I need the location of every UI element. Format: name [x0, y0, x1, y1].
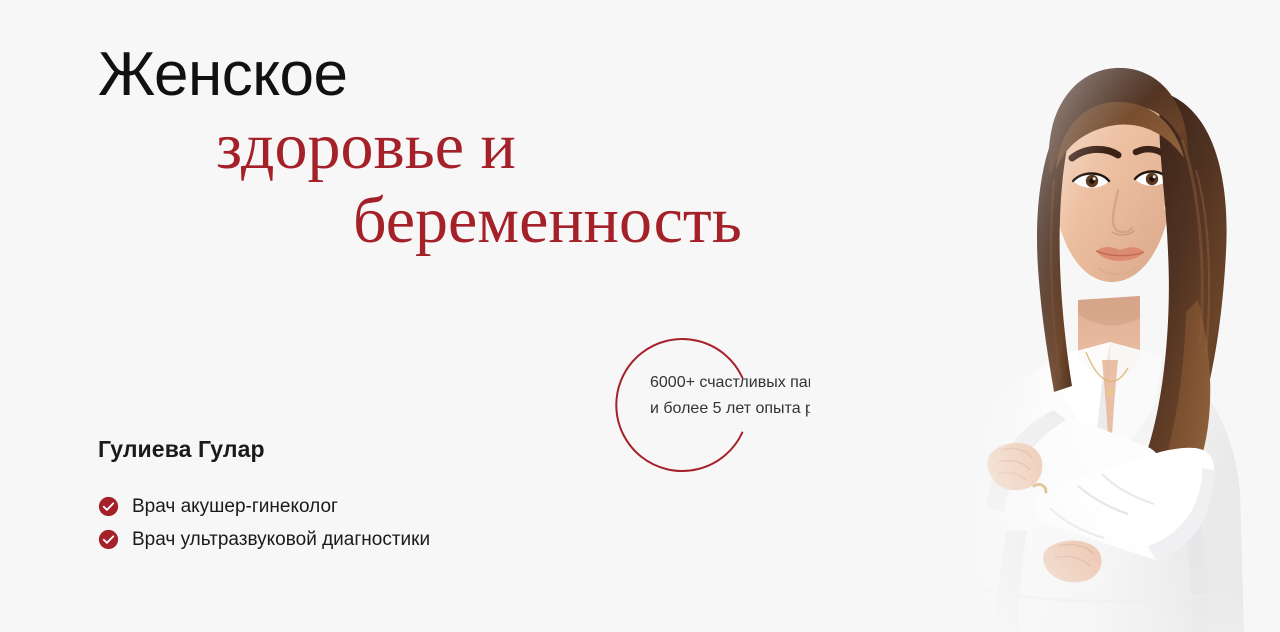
- headline-line-3: беременность: [0, 188, 900, 254]
- doctor-info: Гулиева Гулар Врач акушер-гинеколог Врач…: [98, 436, 618, 562]
- doctor-name: Гулиева Гулар: [98, 436, 618, 463]
- headline-line-2: здоровье и: [0, 114, 900, 180]
- check-circle-icon: [98, 529, 119, 550]
- stat-badge-text: 6000+ счастливых пациенток и более 5 лет…: [650, 370, 970, 422]
- headline-line-1: Женское: [0, 44, 900, 106]
- list-item: Врач ультразвуковой диагностики: [98, 529, 618, 550]
- credential-label: Врач акушер-гинеколог: [132, 496, 338, 517]
- hero-banner: Женское здоровье и беременность 6000+ сч…: [0, 0, 1280, 632]
- page-title: Женское здоровье и беременность: [0, 44, 900, 254]
- credential-label: Врач ультразвуковой диагностики: [132, 529, 430, 550]
- stat-badge-line-1: 6000+ счастливых пациенток: [650, 370, 970, 396]
- stat-badge-line-2: и более 5 лет опыта работы: [650, 396, 970, 422]
- list-item: Врач акушер-гинеколог: [98, 496, 618, 517]
- stat-badge: 6000+ счастливых пациенток и более 5 лет…: [606, 330, 756, 480]
- check-circle-icon: [98, 496, 119, 517]
